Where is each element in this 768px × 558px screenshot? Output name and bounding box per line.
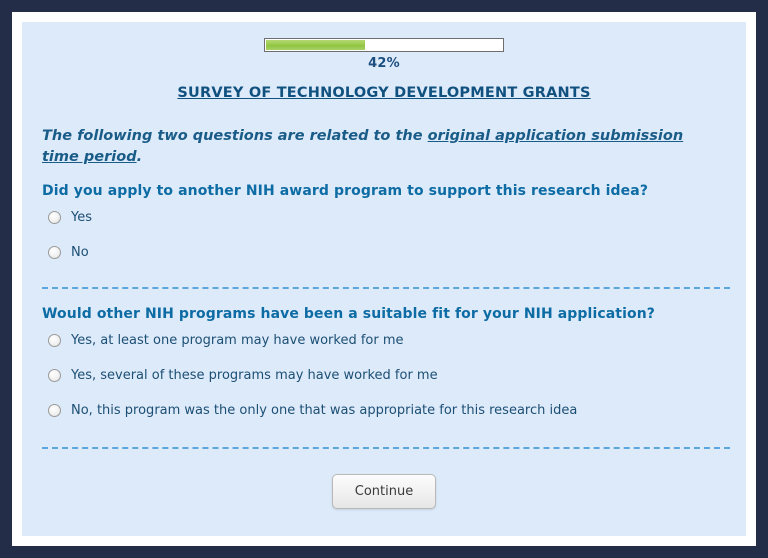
intro-prefix-text: The following two questions are related … bbox=[42, 128, 428, 144]
section-divider bbox=[42, 287, 730, 289]
continue-button[interactable]: Continue bbox=[332, 474, 436, 509]
question-2-option-only-program[interactable]: No, this program was the only one that w… bbox=[48, 403, 577, 418]
question-1-option-yes[interactable]: Yes bbox=[48, 210, 92, 225]
option-label: Yes, several of these programs may have … bbox=[71, 368, 438, 383]
radio-button-icon[interactable] bbox=[48, 404, 61, 417]
survey-window-frame: 42% SURVEY OF TECHNOLOGY DEVELOPMENT GRA… bbox=[12, 12, 756, 546]
question-2-option-one-program[interactable]: Yes, at least one program may have worke… bbox=[48, 333, 404, 348]
option-label: Yes, at least one program may have worke… bbox=[71, 333, 404, 348]
radio-button-icon[interactable] bbox=[48, 334, 61, 347]
option-label: No, this program was the only one that w… bbox=[71, 403, 577, 418]
radio-button-icon[interactable] bbox=[48, 246, 61, 259]
question-2-text: Would other NIH programs have been a sui… bbox=[42, 306, 655, 322]
option-label: No bbox=[71, 245, 89, 260]
progress-percent-label: 42% bbox=[22, 56, 746, 71]
page-title: SURVEY OF TECHNOLOGY DEVELOPMENT GRANTS bbox=[22, 85, 746, 101]
progress-bar-fill bbox=[266, 40, 365, 50]
question-1-option-no[interactable]: No bbox=[48, 245, 89, 260]
question-2-option-several-programs[interactable]: Yes, several of these programs may have … bbox=[48, 368, 438, 383]
section-divider bbox=[42, 447, 730, 449]
intro-suffix-text: . bbox=[137, 149, 143, 165]
question-1-text: Did you apply to another NIH award progr… bbox=[42, 183, 648, 199]
survey-content-panel: 42% SURVEY OF TECHNOLOGY DEVELOPMENT GRA… bbox=[22, 22, 746, 536]
radio-button-icon[interactable] bbox=[48, 211, 61, 224]
progress-section: 42% bbox=[22, 34, 746, 71]
progress-bar-track bbox=[264, 38, 504, 52]
footer-actions: Continue bbox=[22, 474, 746, 509]
radio-button-icon[interactable] bbox=[48, 369, 61, 382]
intro-paragraph: The following two questions are related … bbox=[42, 126, 702, 167]
option-label: Yes bbox=[71, 210, 92, 225]
